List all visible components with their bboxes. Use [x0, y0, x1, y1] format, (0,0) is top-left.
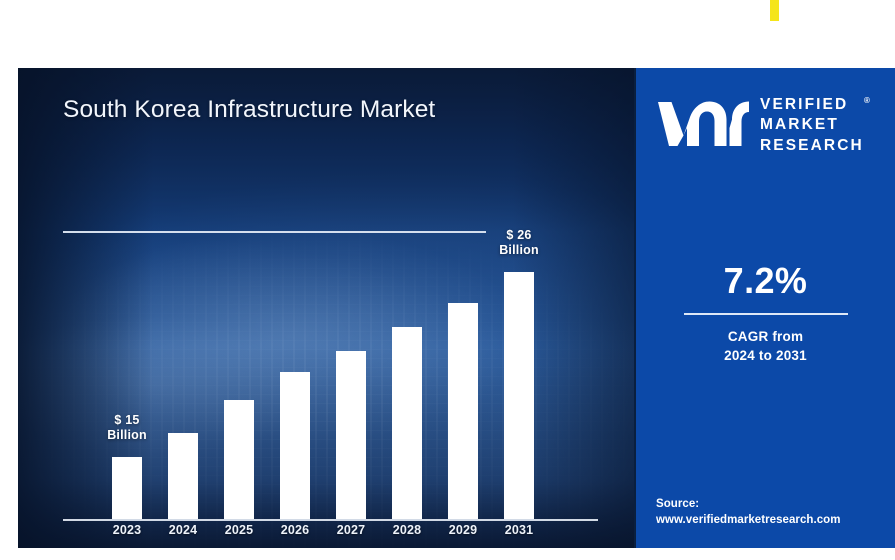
source-url[interactable]: www.verifiedmarketresearch.com: [656, 512, 891, 528]
registered-trademark-icon: ®: [864, 96, 870, 105]
brand-line-2: MARKET: [760, 115, 864, 135]
bar-value-label-line-2: Billion: [84, 428, 170, 443]
bar-value-label-2031: $ 26Billion: [476, 228, 562, 259]
x-axis-tick-2026: 2026: [267, 523, 323, 537]
yellow-marker-decor: [770, 0, 779, 21]
brand-line-3: RESEARCH: [760, 136, 864, 156]
source-label: Source:: [656, 496, 891, 512]
cagr-block: 7.2% CAGR from 2024 to 2031: [636, 263, 895, 366]
cagr-value: 7.2%: [636, 263, 895, 299]
source-note: Source: www.verifiedmarketresearch.com: [656, 496, 891, 529]
brand-line-1: VERIFIED: [760, 95, 864, 115]
brand-wordmark: VERIFIED MARKET RESEARCH: [760, 95, 864, 156]
bar-2028[interactable]: [392, 327, 422, 519]
cagr-caption-line-1: CAGR from: [728, 329, 803, 344]
x-axis-tick-2023: 2023: [99, 523, 155, 537]
bar-2031[interactable]: [504, 272, 534, 519]
bar-2027[interactable]: [336, 351, 366, 519]
bar-value-label-2023: $ 15Billion: [84, 413, 170, 444]
bar-chart: $ 15Billion2023202420252026202720282029$…: [18, 68, 636, 548]
x-axis-tick-2027: 2027: [323, 523, 379, 537]
bar-value-label-line-2: Billion: [476, 243, 562, 258]
vmr-logo-icon: [656, 98, 752, 150]
chart-panel: South Korea Infrastructure Market $ 15Bi…: [18, 68, 636, 548]
cagr-caption-line-2: 2024 to 2031: [724, 348, 807, 363]
bar-value-label-line-1: $ 15: [84, 413, 170, 428]
bar-2023[interactable]: [112, 457, 142, 519]
x-axis-tick-2025: 2025: [211, 523, 267, 537]
infographic-card: South Korea Infrastructure Market $ 15Bi…: [18, 68, 895, 548]
x-axis-tick-2029: 2029: [435, 523, 491, 537]
cagr-caption: CAGR from 2024 to 2031: [636, 327, 895, 366]
bar-2024[interactable]: [168, 433, 198, 519]
bar-2025[interactable]: [224, 400, 254, 519]
x-axis-tick-2024: 2024: [155, 523, 211, 537]
x-axis-line: [63, 519, 598, 521]
verified-market-research-logo: VERIFIED MARKET RESEARCH ®: [656, 94, 878, 156]
bar-value-label-line-1: $ 26: [476, 228, 562, 243]
bar-2026[interactable]: [280, 372, 310, 519]
infographic-canvas: South Korea Infrastructure Market $ 15Bi…: [0, 0, 895, 560]
cagr-divider: [684, 313, 848, 315]
brand-panel: VERIFIED MARKET RESEARCH ® 7.2% CAGR fro…: [636, 68, 895, 548]
x-axis-tick-2031: 2031: [491, 523, 547, 537]
bar-2029[interactable]: [448, 303, 478, 519]
x-axis-tick-2028: 2028: [379, 523, 435, 537]
